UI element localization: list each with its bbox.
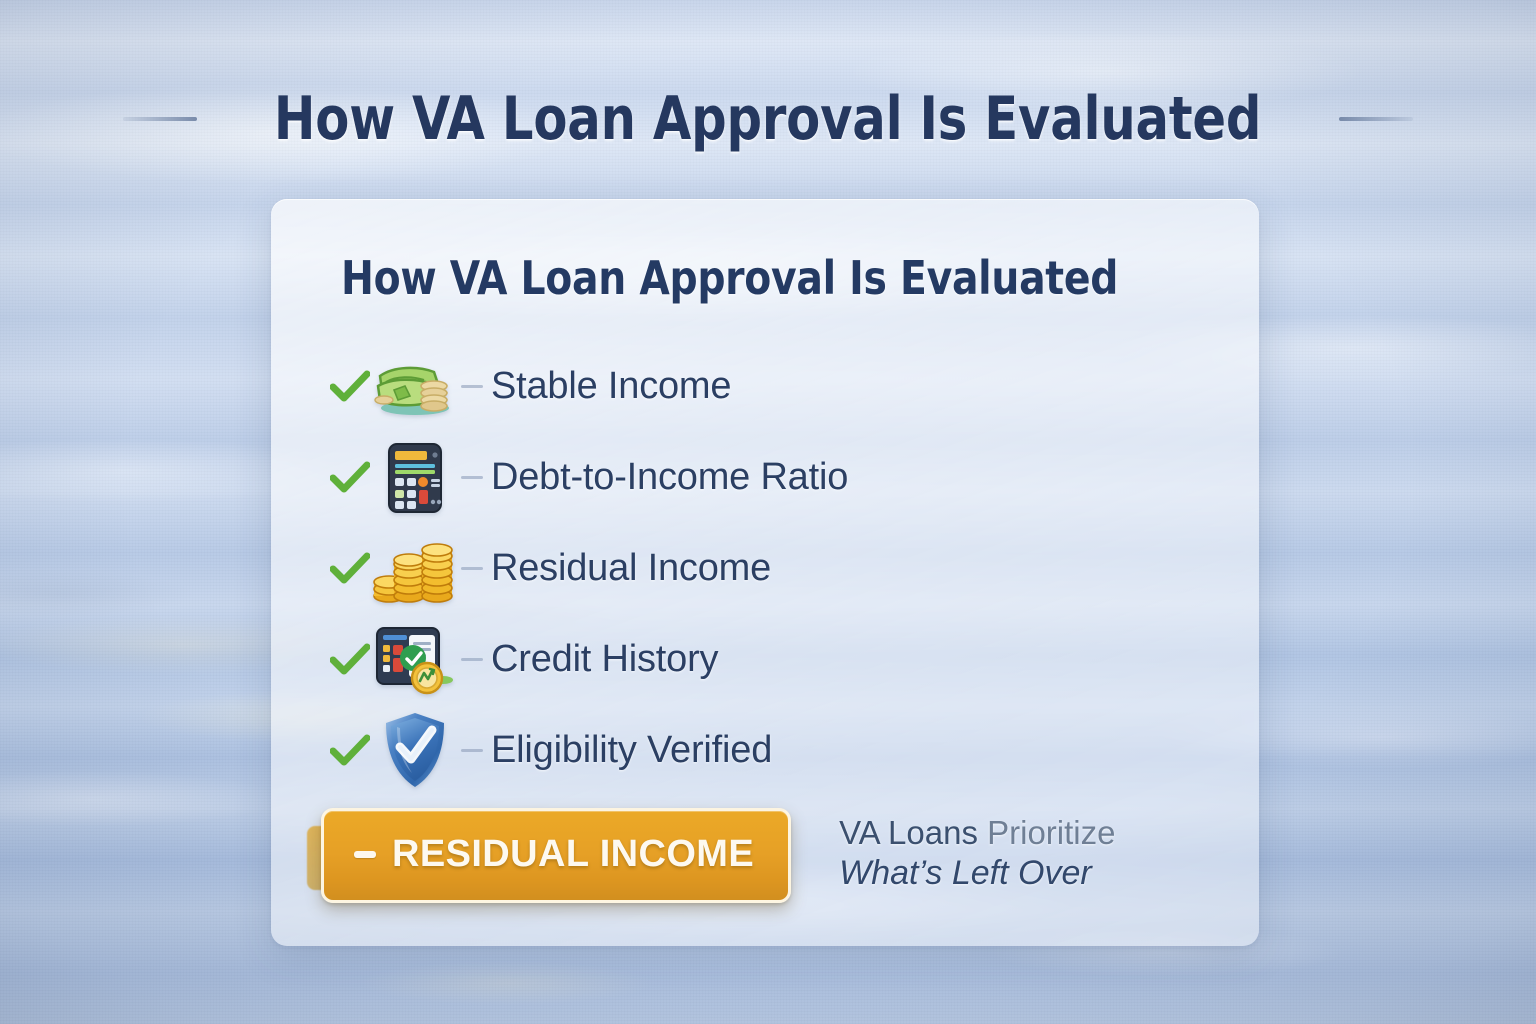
credit-report-icon bbox=[371, 624, 459, 696]
green-check-icon bbox=[329, 461, 371, 495]
blue-shield-check-icon bbox=[371, 711, 459, 791]
row-dash-icon bbox=[461, 567, 483, 570]
feature-row-residual-income[interactable]: Residual Income bbox=[329, 523, 1201, 614]
feature-label: Residual Income bbox=[491, 547, 771, 590]
row-dash-icon bbox=[461, 749, 483, 752]
tagline-line-1: VA Loans Prioritize bbox=[839, 813, 1115, 853]
leading-dash-icon bbox=[354, 851, 376, 858]
row-dash-icon bbox=[461, 476, 483, 479]
feature-label: Stable Income bbox=[491, 365, 731, 408]
residual-income-button-label: RESIDUAL INCOME bbox=[392, 833, 754, 876]
feature-row-eligibility-verified[interactable]: Eligibility Verified bbox=[329, 705, 1201, 796]
feature-label: Debt-to-Income Ratio bbox=[491, 456, 848, 499]
tagline-muted: Prioritize bbox=[987, 814, 1115, 851]
cta-wrapper: RESIDUAL INCOME bbox=[321, 808, 791, 903]
tagline-line-2: What’s Left Over bbox=[839, 853, 1115, 894]
coin-stacks-icon bbox=[371, 534, 459, 604]
content-card: How VA Loan Approval Is Evaluated bbox=[271, 199, 1259, 946]
green-check-icon bbox=[329, 370, 371, 404]
residual-income-button[interactable]: RESIDUAL INCOME bbox=[321, 808, 791, 903]
green-check-icon bbox=[329, 552, 371, 586]
feature-row-stable-income[interactable]: Stable Income bbox=[329, 341, 1201, 432]
card-heading: How VA Loan Approval Is Evaluated bbox=[341, 251, 1158, 305]
feature-label: Eligibility Verified bbox=[491, 729, 772, 772]
green-check-icon bbox=[329, 643, 371, 677]
card-inner: How VA Loan Approval Is Evaluated bbox=[271, 199, 1259, 946]
title-rule-right-icon bbox=[1339, 117, 1413, 121]
row-dash-icon bbox=[461, 385, 483, 388]
row-dash-icon bbox=[461, 658, 483, 661]
green-check-icon bbox=[329, 734, 371, 768]
page-title: How VA Loan Approval Is Evaluated bbox=[274, 84, 1261, 154]
feature-row-debt-to-income[interactable]: Debt-to-Income Ratio bbox=[329, 432, 1201, 523]
feature-label: Credit History bbox=[491, 638, 718, 681]
bottom-row: RESIDUAL INCOME VA Loans Prioritize What… bbox=[321, 808, 1221, 903]
page-title-row: How VA Loan Approval Is Evaluated bbox=[0, 84, 1536, 154]
feature-row-credit-history[interactable]: Credit History bbox=[329, 614, 1201, 705]
money-banknotes-icon bbox=[371, 356, 459, 418]
feature-list: Stable Income bbox=[329, 341, 1201, 796]
tagline: VA Loans Prioritize What’s Left Over bbox=[839, 813, 1115, 899]
title-rule-left-icon bbox=[123, 117, 197, 121]
tagline-strong: VA Loans bbox=[839, 814, 987, 851]
calculator-icon bbox=[371, 442, 459, 514]
